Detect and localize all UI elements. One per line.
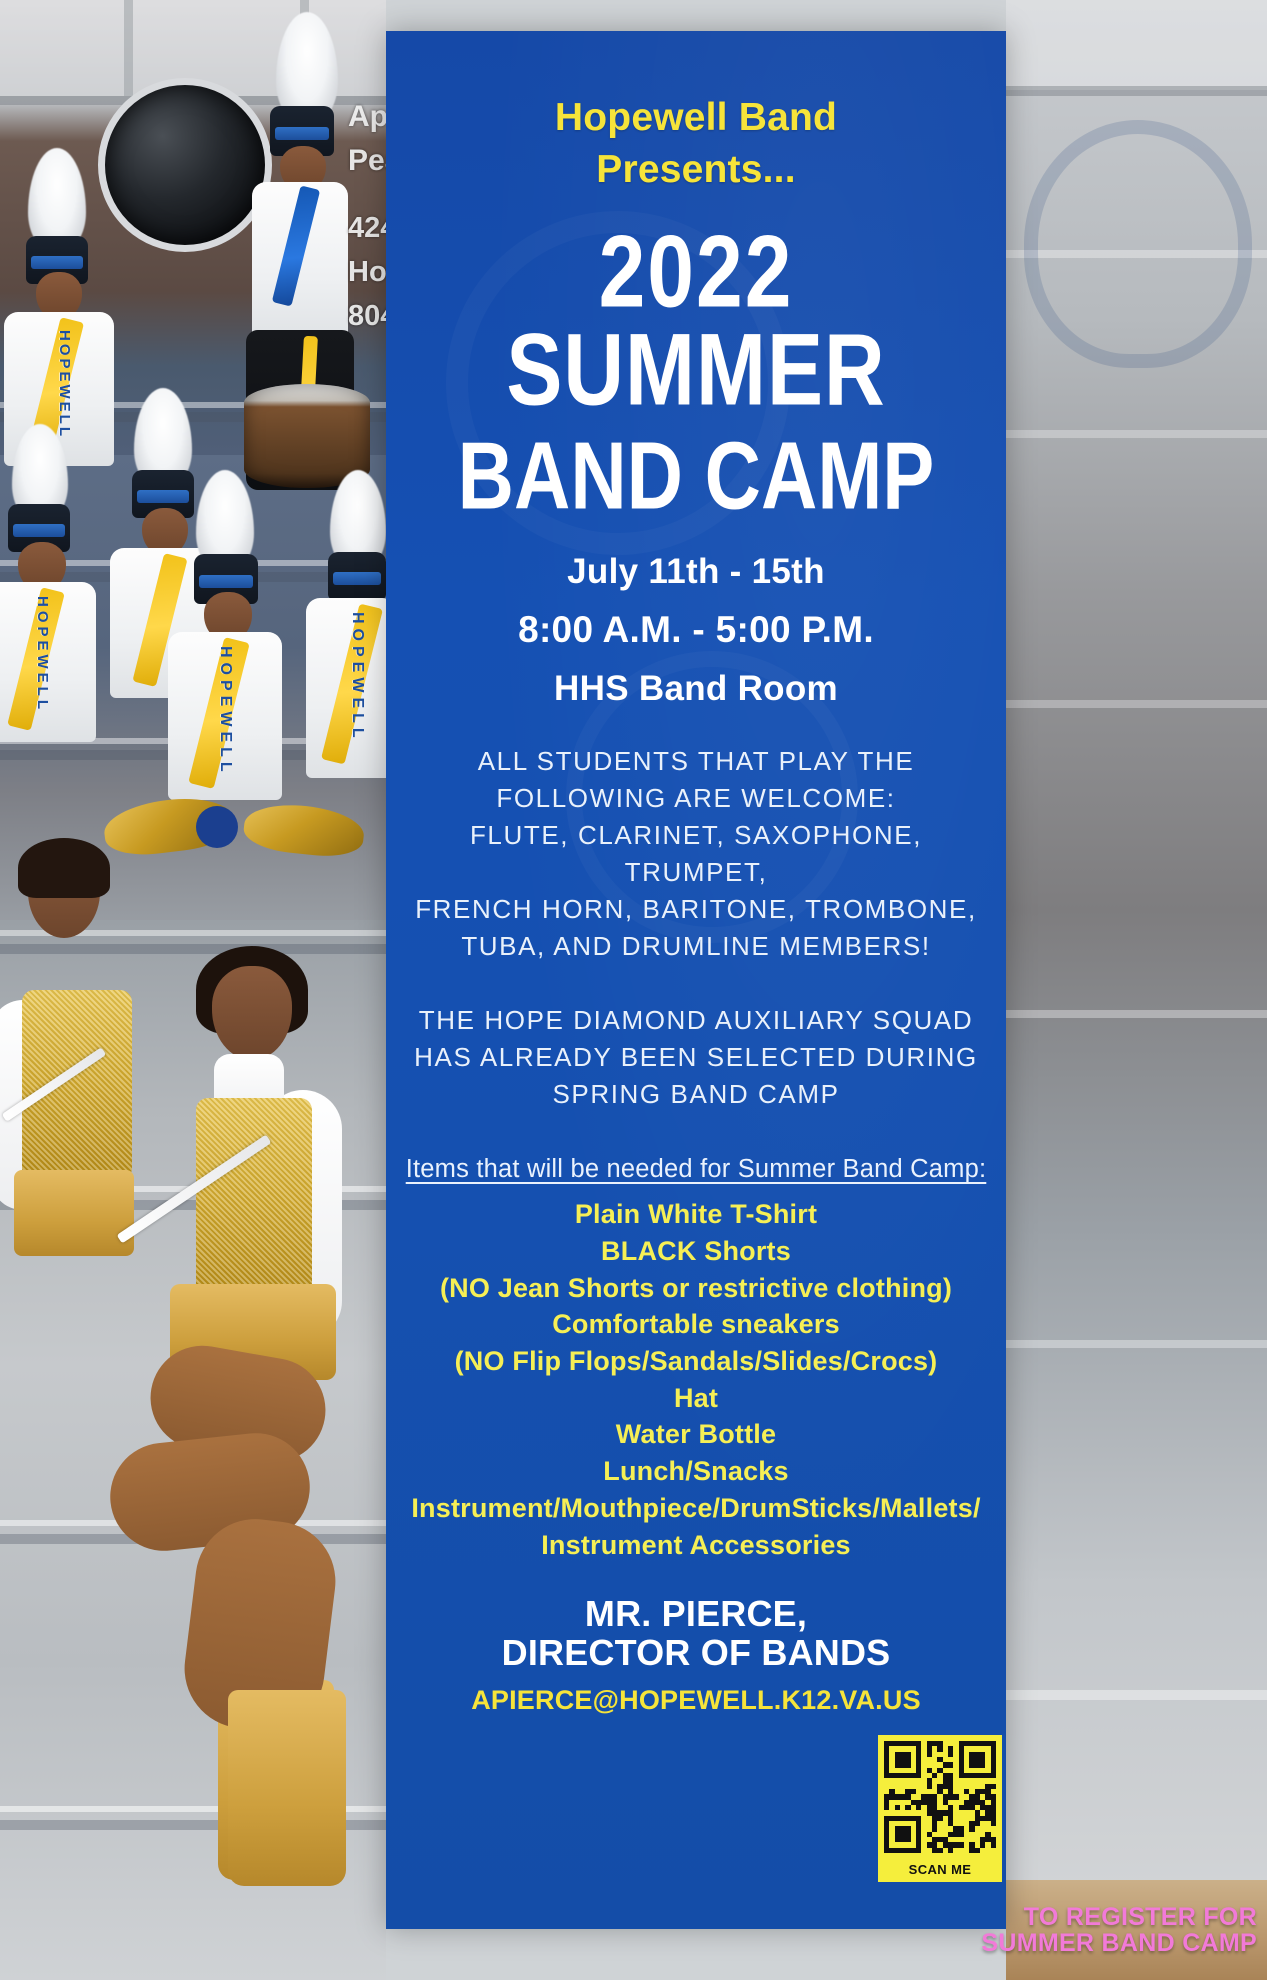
uniform-word-4: HOPEWELL [34, 596, 51, 713]
uniform-word-6: HOPEWELL [348, 612, 366, 743]
camp-title-line-1: SUMMER [398, 318, 994, 420]
welcome-line-1: ALL STUDENTS THAT PLAY THE [398, 743, 994, 780]
list-item: Hat [398, 1380, 994, 1417]
welcome-line-3: FLUTE, CLARINET, SAXOPHONE, TRUMPET, [398, 817, 994, 891]
contact-name-line-2: DIRECTOR OF BANDS [398, 1634, 994, 1673]
info-panel: Hopewell Band Presents... 2022 SUMMER BA… [386, 31, 1006, 1929]
qr-code-block[interactable]: SCAN ME [878, 1735, 1002, 1882]
camp-title-line-2: BAND CAMP [398, 428, 994, 523]
contact-email-link[interactable]: APIERCE@HOPEWELL.K12.VA.US [398, 1685, 994, 1716]
list-item: Instrument Accessories [398, 1527, 994, 1564]
auxiliary-line-2: HAS ALREADY BEEN SELECTED DURING [398, 1039, 994, 1076]
dancer-hair-1 [18, 838, 110, 898]
register-line-2: SUMMER BAND CAMP [981, 1930, 1257, 1956]
camp-dates: July 11th - 15th [398, 552, 994, 592]
camp-year: 2022 [398, 221, 994, 322]
watermark-line-2: Peanut Company [348, 144, 386, 178]
list-item: (NO Jean Shorts or restrictive clothing) [398, 1270, 994, 1307]
watermark-line-4: Hopewell, VA 23860 [348, 256, 386, 289]
presenter-line-1: Hopewell Band [398, 93, 994, 143]
register-callout: TO REGISTER FOR SUMMER BAND CAMP [981, 1904, 1257, 1956]
list-item: (NO Flip Flops/Sandals/Slides/Crocs) [398, 1343, 994, 1380]
auxiliary-paragraph: THE HOPE DIAMOND AUXILIARY SQUAD HAS ALR… [398, 1002, 994, 1113]
register-line-1: TO REGISTER FOR [981, 1904, 1257, 1930]
list-item: Comfortable sneakers [398, 1306, 994, 1343]
qr-code-image[interactable] [878, 1735, 1002, 1859]
logo-watermark [1024, 120, 1252, 368]
dancer-costume-1 [22, 990, 132, 1180]
welcome-line-4: FRENCH HORN, BARITONE, TROMBONE, [398, 891, 994, 928]
contact-name-line-1: MR. PIERCE, [398, 1595, 994, 1634]
band-photo-collage: HOPEWELL HOPEWELL HOPEWELL HOPEWELL [0, 0, 386, 1980]
watermark-line-3: 4240 S. Crescent Avenue [348, 212, 386, 245]
uniform-word-5: HOPEWELL [216, 646, 234, 777]
items-heading: Items that will be needed for Summer Ban… [398, 1155, 994, 1184]
bass-drum [98, 78, 272, 252]
auxiliary-line-3: SPRING BAND CAMP [398, 1076, 994, 1113]
welcome-line-5: TUBA, AND DRUMLINE MEMBERS! [398, 928, 994, 965]
watermark-line-5: 804-458-1534 [348, 300, 386, 333]
qr-modules [884, 1741, 996, 1853]
welcome-paragraph: ALL STUDENTS THAT PLAY THE FOLLOWING ARE… [398, 743, 994, 964]
qr-scan-label: SCAN ME [878, 1859, 1002, 1882]
mouthpiece [196, 806, 238, 848]
list-item: BLACK Shorts [398, 1233, 994, 1270]
shako-hat-6 [328, 552, 386, 600]
dancer-boot-2b [228, 1690, 346, 1886]
camp-time: 8:00 A.M. - 5:00 P.M. [398, 609, 994, 651]
items-list: Plain White T-Shirt BLACK Shorts (NO Jea… [398, 1196, 994, 1563]
welcome-line-2: FOLLOWING ARE WELCOME: [398, 780, 994, 817]
watermark-line-1: Appomattox River [348, 100, 386, 134]
list-item: Water Bottle [398, 1416, 994, 1453]
dancer-skirt-1 [14, 1170, 134, 1256]
auxiliary-line-1: THE HOPE DIAMOND AUXILIARY SQUAD [398, 1002, 994, 1039]
camp-location: HHS Band Room [398, 669, 994, 709]
flyer-poster: HOPEWELL HOPEWELL HOPEWELL HOPEWELL [0, 0, 1267, 1980]
list-item: Lunch/Snacks [398, 1453, 994, 1490]
list-item: Instrument/Mouthpiece/DrumSticks/Mallets… [398, 1490, 994, 1527]
list-item: Plain White T-Shirt [398, 1196, 994, 1233]
photo-right-strip [1006, 0, 1267, 1980]
uniform-word-2: HOPEWELL [56, 330, 73, 439]
presenter-line-2: Presents... [398, 145, 994, 195]
dancer-costume-2 [196, 1098, 312, 1298]
